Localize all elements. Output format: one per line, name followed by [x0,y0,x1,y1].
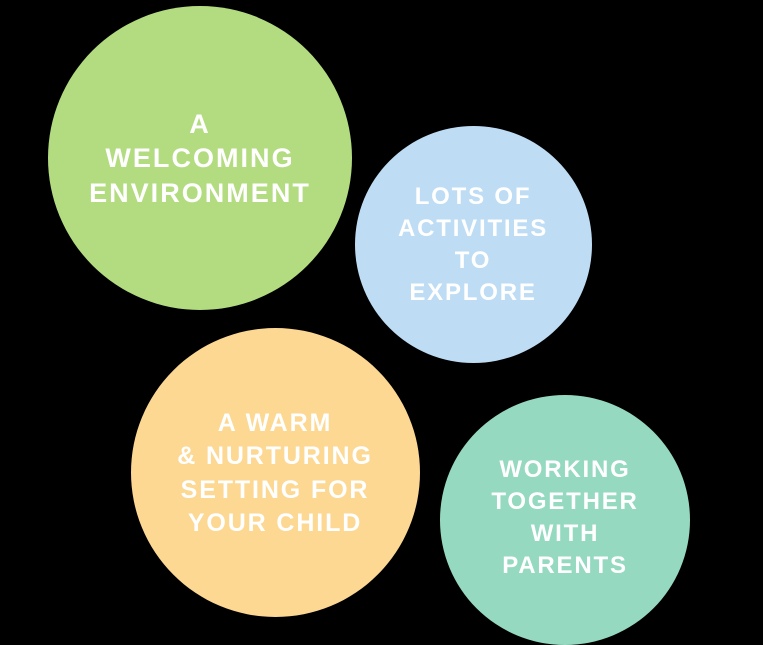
bubble-warm-nurturing-setting-label: A WARM & NURTURING SETTING FOR YOUR CHIL… [171,407,379,540]
bubble-welcoming-environment-label: A WELCOMING ENVIRONMENT [83,107,317,209]
bubble-working-together-with-parents[interactable]: WORKING TOGETHER WITH PARENTS [440,395,690,645]
bubble-working-together-with-parents-label: WORKING TOGETHER WITH PARENTS [485,454,644,583]
bubble-lots-of-activities-label: LOTS OF ACTIVITIES TO EXPLORE [392,181,554,309]
bubble-lots-of-activities[interactable]: LOTS OF ACTIVITIES TO EXPLORE [355,126,592,363]
bubble-warm-nurturing-setting[interactable]: A WARM & NURTURING SETTING FOR YOUR CHIL… [131,328,420,617]
bubble-cluster-graphic: A WELCOMING ENVIRONMENT LOTS OF ACTIVITI… [0,0,763,635]
bubble-welcoming-environment[interactable]: A WELCOMING ENVIRONMENT [48,6,352,310]
